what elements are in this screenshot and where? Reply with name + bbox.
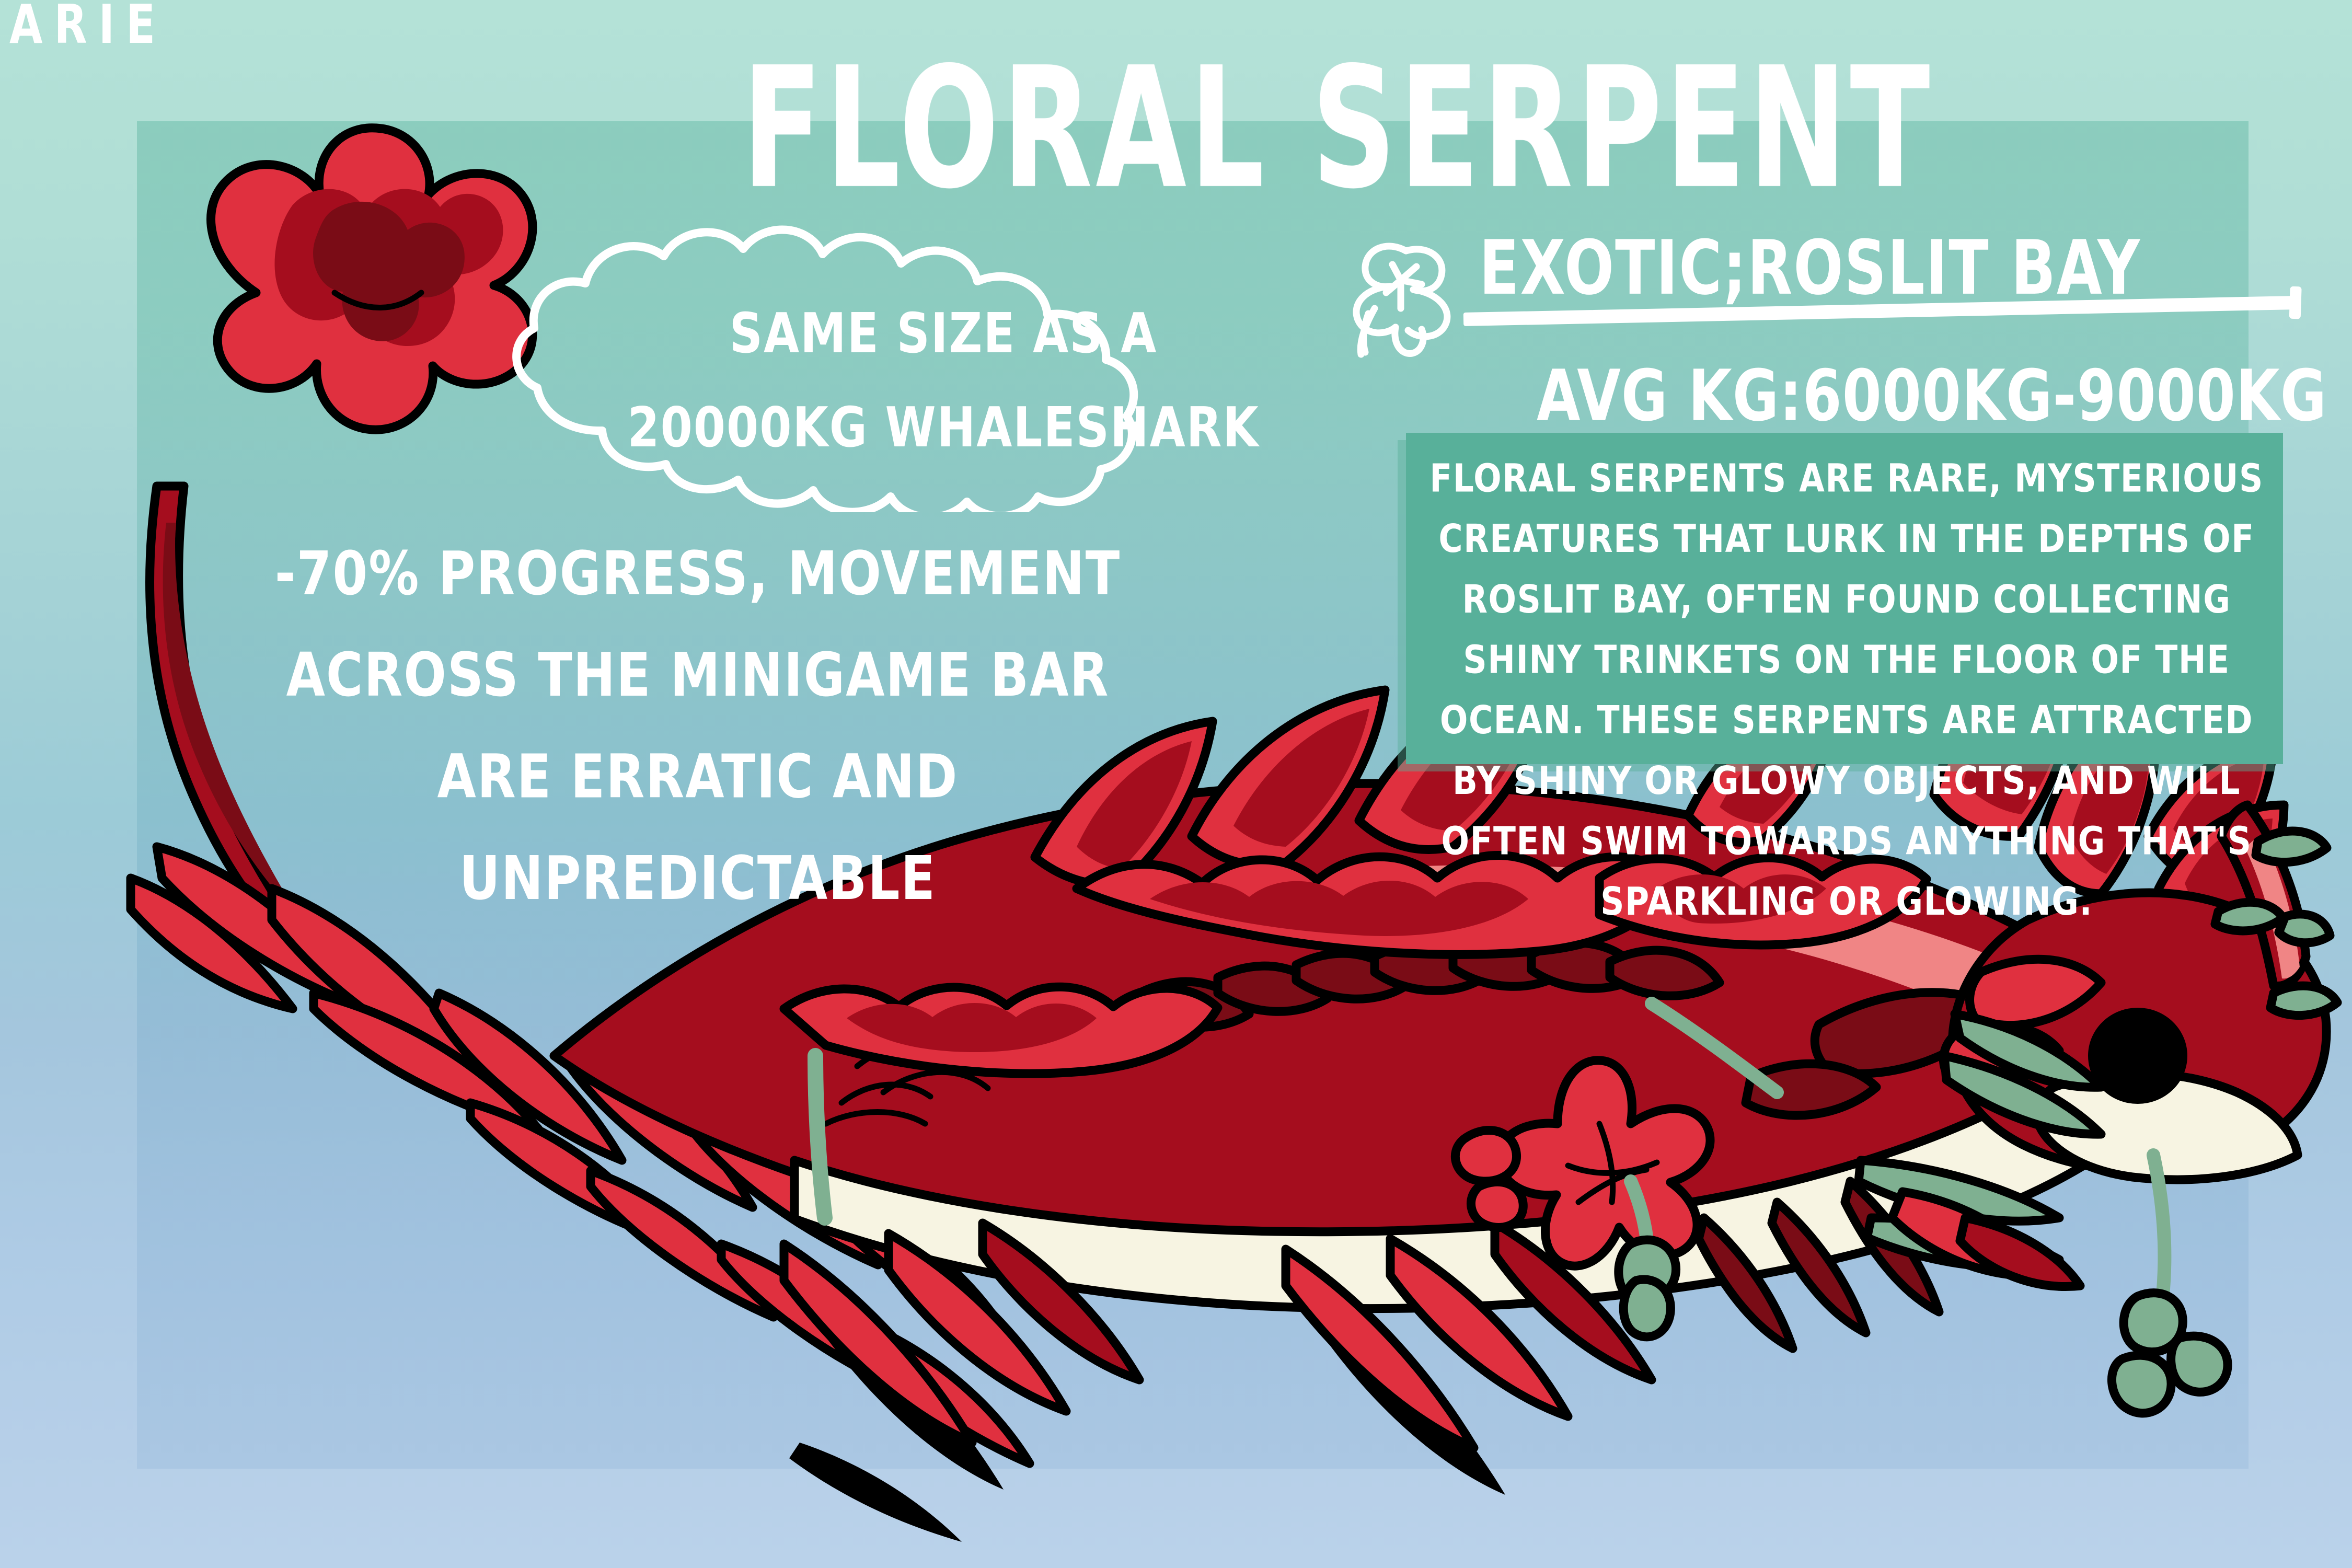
artist-signature: ARIE	[9, 0, 167, 56]
avg-weight-label: AVG KG:6000KG-9000KG	[1537, 355, 2327, 437]
pectoral-fins	[1892, 1192, 2080, 1287]
minigame-note: -70% PROGRESS, MOVEMENT ACROSS THE MINIG…	[157, 523, 1239, 929]
eye	[2088, 1008, 2187, 1104]
size-comparison-line1: SAME SIZE AS A	[730, 301, 1158, 366]
tail-flower	[211, 128, 533, 430]
subtitle-habitat: EXOTIC;ROSLIT BAY	[1479, 225, 2141, 312]
description-text: FLORAL SERPENTS ARE RARE, MYSTERIOUS CRE…	[1421, 448, 2273, 932]
size-comparison-text: SAME SIZE AS A 20000KG WHALESHARK	[564, 286, 1322, 475]
body-vine	[815, 1004, 1777, 1218]
minigame-note-line1: -70% PROGRESS, MOVEMENT	[275, 538, 1121, 608]
belly-flower	[1455, 1060, 1710, 1337]
back-scale-leaves	[1139, 941, 1720, 1027]
minigame-note-line2: ACROSS THE MINIGAME BAR	[286, 640, 1110, 710]
minigame-note-line3: ARE ERRATIC AND	[437, 742, 959, 812]
page-title: FLORAL SERPENT	[742, 31, 1933, 225]
tail-fin-cluster	[131, 847, 1030, 1542]
ventral-fins	[784, 1181, 1939, 1495]
creature-reference-sheet: .ol{stroke:#000;stroke-width:17;stroke-l…	[0, 0, 2352, 1568]
size-comparison-line2: 20000KG WHALESHARK	[627, 395, 1259, 460]
minigame-note-line4: UNPREDICTABLE	[459, 843, 936, 913]
